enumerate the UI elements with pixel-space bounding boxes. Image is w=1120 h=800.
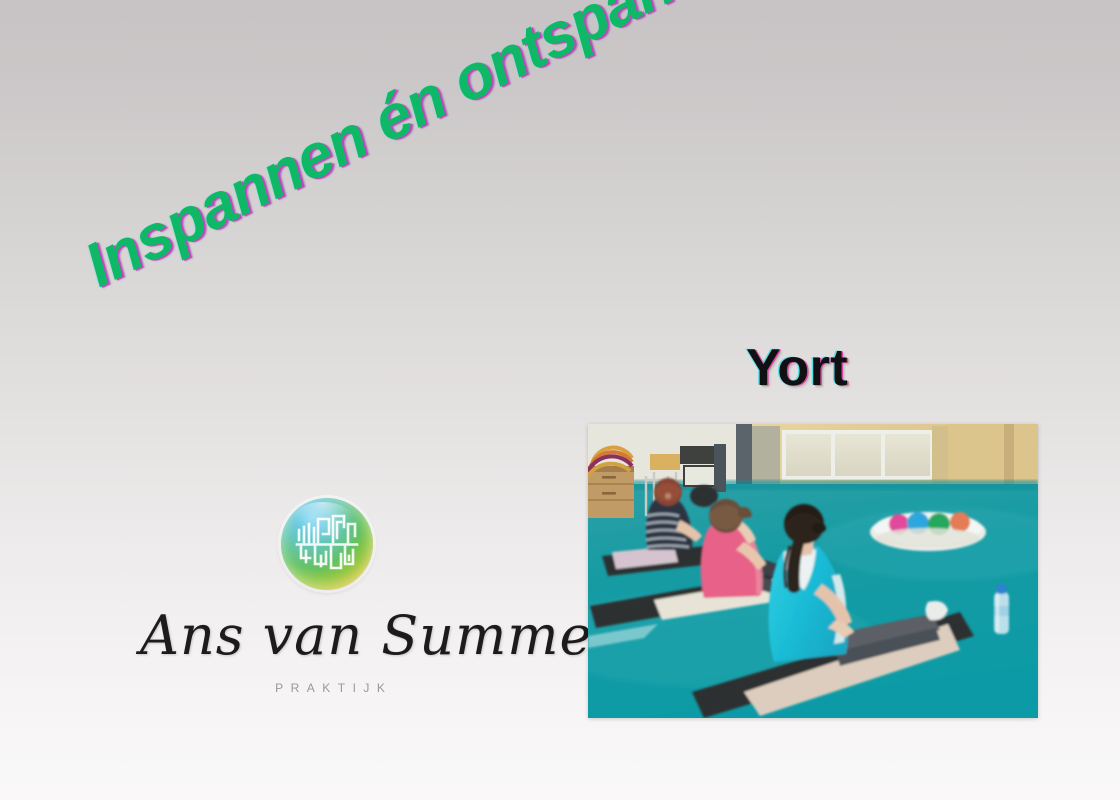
yoga-class-illustration bbox=[588, 424, 1038, 718]
brand-signature: Ans van Summeren PRAKTIJK bbox=[140, 604, 520, 695]
logo-glyph-icon bbox=[277, 494, 377, 594]
page-title: Yort bbox=[746, 338, 848, 398]
headline-text: Inspannen én ontspannen bbox=[63, 0, 814, 324]
brand-name-text: Ans van Summeren bbox=[140, 604, 520, 667]
presentation-slide: Inspannen én ontspannen Yort bbox=[0, 0, 1120, 800]
brand-subtitle-text: PRAKTIJK bbox=[140, 681, 520, 695]
headline-rotated-wrapper: Inspannen én ontspannen bbox=[63, 0, 814, 324]
yoga-class-photo bbox=[588, 424, 1038, 718]
brand-logo-icon bbox=[277, 494, 377, 594]
